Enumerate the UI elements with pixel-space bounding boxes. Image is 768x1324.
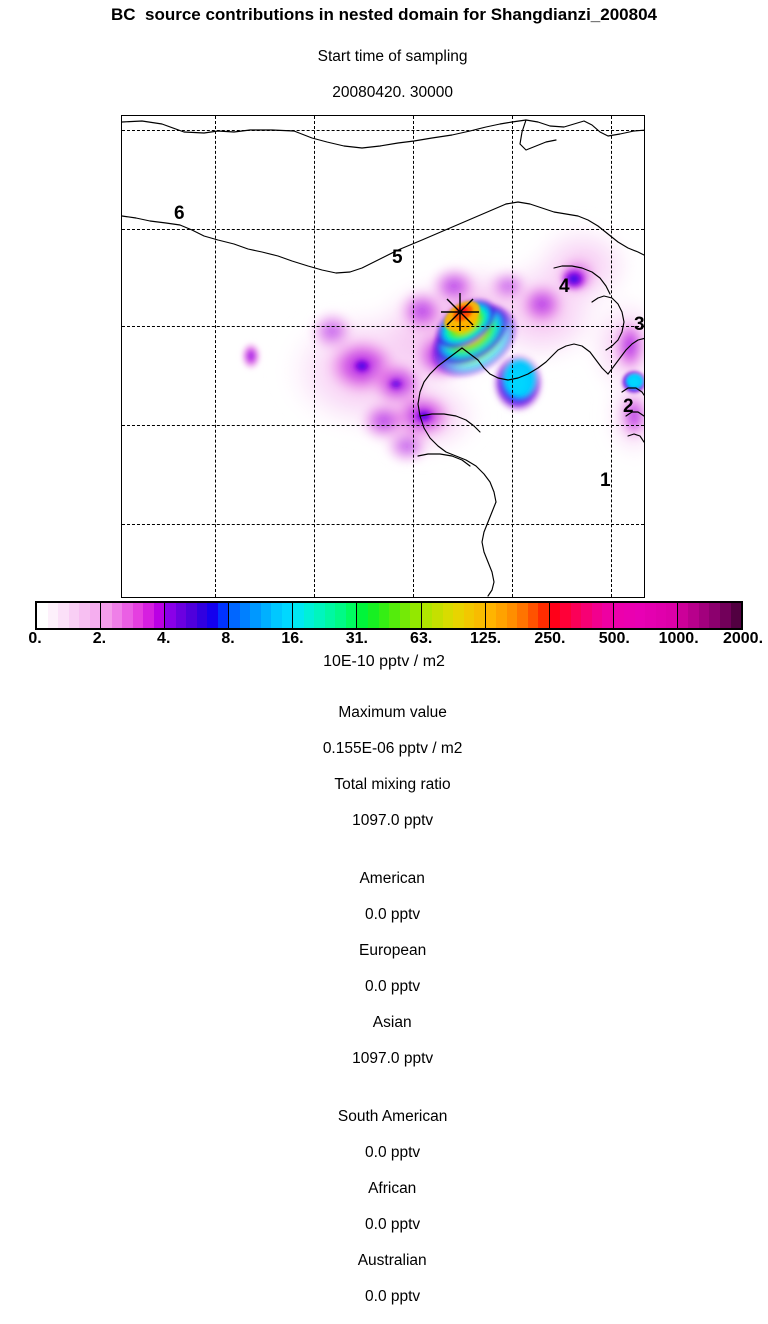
colorbar-cell-2-0	[165, 603, 176, 628]
source-region-label-4: 4	[559, 277, 570, 296]
colorbar-segment-6	[422, 603, 486, 628]
colorbar-segment-3	[229, 603, 293, 628]
colorbar-cell-10-5	[731, 603, 742, 628]
colorbar-tick-9: 500.	[599, 630, 630, 648]
colorbar-cell-4-0	[293, 603, 304, 628]
plume-isolated-west	[240, 341, 262, 371]
colorbar-cell-2-5	[218, 603, 229, 628]
map-plot-panel: 1 2 3 4 5 6	[121, 115, 645, 598]
colorbar-cell-4-1	[304, 603, 315, 628]
colorbar-cell-10-0	[678, 603, 689, 628]
colorbar-cell-3-4	[271, 603, 282, 628]
colorbar-cell-5-0	[357, 603, 368, 628]
colorbar-tick-3: 8.	[221, 630, 234, 648]
total-mixing-ratio-label: Total mixing ratio	[334, 776, 450, 793]
colorbar-cell-9-1	[624, 603, 635, 628]
colorbar-cell-7-5	[538, 603, 549, 628]
contribution-value-australian: 0.0 pptv	[365, 1288, 420, 1305]
colorbar-cell-9-0	[614, 603, 625, 628]
colorbar-cell-8-0	[550, 603, 561, 628]
colorbar-cell-3-5	[282, 603, 293, 628]
colorbar-cell-2-4	[207, 603, 218, 628]
gridline-horizontal	[122, 229, 644, 230]
gridline-horizontal	[122, 326, 644, 327]
colorbar-cell-7-3	[517, 603, 528, 628]
contribution-value-american: 0.0 pptv	[365, 906, 420, 923]
colorbar-cell-4-2	[314, 603, 325, 628]
colorbar-segment-9	[614, 603, 678, 628]
colorbar-cell-0-5	[90, 603, 101, 628]
gridline-horizontal	[122, 425, 644, 426]
contribution-name-european: European	[359, 942, 426, 959]
colorbar	[35, 601, 743, 630]
colorbar-cell-0-2	[58, 603, 69, 628]
colorbar-segment-10	[678, 603, 741, 628]
colorbar-cell-7-4	[528, 603, 539, 628]
footer-statistics: Maximum value 0.155E-06 pptv / m2 Total …	[0, 682, 768, 1324]
colorbar-segment-2	[165, 603, 229, 628]
colorbar-segment-5	[357, 603, 421, 628]
colorbar-cell-2-3	[197, 603, 208, 628]
colorbar-cell-10-1	[688, 603, 699, 628]
colorbar-cell-1-2	[122, 603, 133, 628]
colorbar-cell-1-0	[101, 603, 112, 628]
colorbar-cell-2-2	[186, 603, 197, 628]
concentration-heatmap	[122, 116, 645, 598]
page-title: BC source contributions in nested domain…	[0, 5, 768, 25]
contribution-value-african: 0.0 pptv	[365, 1216, 420, 1233]
colorbar-cell-5-2	[379, 603, 390, 628]
colorbar-cell-3-1	[240, 603, 251, 628]
colorbar-cell-6-3	[453, 603, 464, 628]
colorbar-cell-10-3	[709, 603, 720, 628]
source-region-label-5: 5	[392, 248, 403, 267]
colorbar-cell-7-1	[496, 603, 507, 628]
colorbar-cell-1-5	[154, 603, 165, 628]
colorbar-cell-6-1	[432, 603, 443, 628]
contribution-name-south-american: South American	[338, 1108, 447, 1125]
colorbar-cell-0-1	[48, 603, 59, 628]
colorbar-tick-7: 125.	[470, 630, 501, 648]
colorbar-cell-5-3	[389, 603, 400, 628]
colorbar-cell-9-4	[656, 603, 667, 628]
max-value-label: Maximum value	[338, 704, 447, 721]
colorbar-tick-1: 2.	[93, 630, 106, 648]
colorbar-cell-8-2	[571, 603, 582, 628]
colorbar-tick-6: 63.	[410, 630, 432, 648]
colorbar-cell-5-1	[368, 603, 379, 628]
colorbar-cell-4-4	[335, 603, 346, 628]
colorbar-cell-1-4	[143, 603, 154, 628]
contribution-name-australian: Australian	[358, 1252, 427, 1269]
colorbar-cell-2-1	[176, 603, 187, 628]
gridline-horizontal	[122, 524, 644, 525]
contributions-row-2: South American 0.0 pptv African 0.0 pptv…	[0, 1090, 768, 1324]
start-time-label: Start time of sampling	[318, 48, 468, 65]
colorbar-cell-8-5	[602, 603, 613, 628]
colorbar-cell-6-5	[474, 603, 485, 628]
colorbar-cell-9-3	[645, 603, 656, 628]
colorbar-cell-3-3	[261, 603, 272, 628]
colorbar-cell-0-4	[79, 603, 90, 628]
colorbar-cell-3-0	[229, 603, 240, 628]
colorbar-tick-0: 0.	[28, 630, 41, 648]
colorbar-segment-7	[486, 603, 550, 628]
colorbar-cell-3-2	[250, 603, 261, 628]
colorbar-cell-8-1	[560, 603, 571, 628]
source-region-label-3: 3	[634, 315, 645, 334]
colorbar-cell-9-2	[635, 603, 646, 628]
colorbar-cell-7-2	[507, 603, 518, 628]
colorbar-tick-8: 250.	[534, 630, 565, 648]
contribution-name-asian: Asian	[373, 1014, 412, 1031]
colorbar-cell-7-0	[486, 603, 497, 628]
colorbar-cell-10-4	[720, 603, 731, 628]
total-mixing-ratio-value: 1097.0 pptv	[352, 812, 433, 829]
contribution-name-african: African	[368, 1180, 416, 1197]
colorbar-tick-4: 16.	[281, 630, 303, 648]
colorbar-cell-9-5	[666, 603, 677, 628]
colorbar-cell-6-4	[464, 603, 475, 628]
colorbar-segment-8	[550, 603, 614, 628]
colorbar-cell-4-5	[346, 603, 357, 628]
colorbar-cell-6-0	[422, 603, 433, 628]
colorbar-tick-labels: 0.2.4.8.16.31.63.125.250.500.1000.2000.	[0, 630, 768, 652]
colorbar-cell-8-3	[581, 603, 592, 628]
colorbar-segment-1	[101, 603, 165, 628]
contribution-value-asian: 1097.0 pptv	[352, 1050, 433, 1067]
plume-secondary-cyan	[492, 353, 544, 413]
colorbar-cell-10-2	[699, 603, 710, 628]
source-region-label-2: 2	[623, 397, 634, 416]
colorbar-cell-0-3	[69, 603, 80, 628]
contribution-name-american: American	[359, 870, 424, 887]
gridline-horizontal	[122, 130, 644, 131]
colorbar-tick-5: 31.	[346, 630, 368, 648]
colorbar-cell-0-0	[37, 603, 48, 628]
max-and-total-line: Maximum value 0.155E-06 pptv / m2 Total …	[0, 686, 768, 848]
colorbar-cell-1-1	[112, 603, 123, 628]
start-time-value: 20080420. 30000	[332, 84, 453, 101]
colorbar-cell-1-3	[133, 603, 144, 628]
contributions-row-1: American 0.0 pptv European 0.0 pptv Asia…	[0, 852, 768, 1086]
colorbar-cell-5-5	[410, 603, 421, 628]
colorbar-unit-label: 10E-10 pptv / m2	[0, 653, 768, 671]
colorbar-tick-11: 2000.	[723, 630, 763, 648]
contribution-value-european: 0.0 pptv	[365, 978, 420, 995]
max-value: 0.155E-06 pptv / m2	[323, 740, 463, 757]
contribution-value-south-american: 0.0 pptv	[365, 1144, 420, 1161]
colorbar-cell-8-4	[592, 603, 603, 628]
colorbar-cell-5-4	[400, 603, 411, 628]
source-region-label-6: 6	[174, 204, 185, 223]
colorbar-cell-4-3	[325, 603, 336, 628]
colorbar-tick-2: 4.	[157, 630, 170, 648]
colorbar-segment-4	[293, 603, 357, 628]
source-region-label-1: 1	[600, 471, 611, 490]
colorbar-cell-6-2	[443, 603, 454, 628]
colorbar-segment-0	[37, 603, 101, 628]
colorbar-tick-10: 1000.	[659, 630, 699, 648]
